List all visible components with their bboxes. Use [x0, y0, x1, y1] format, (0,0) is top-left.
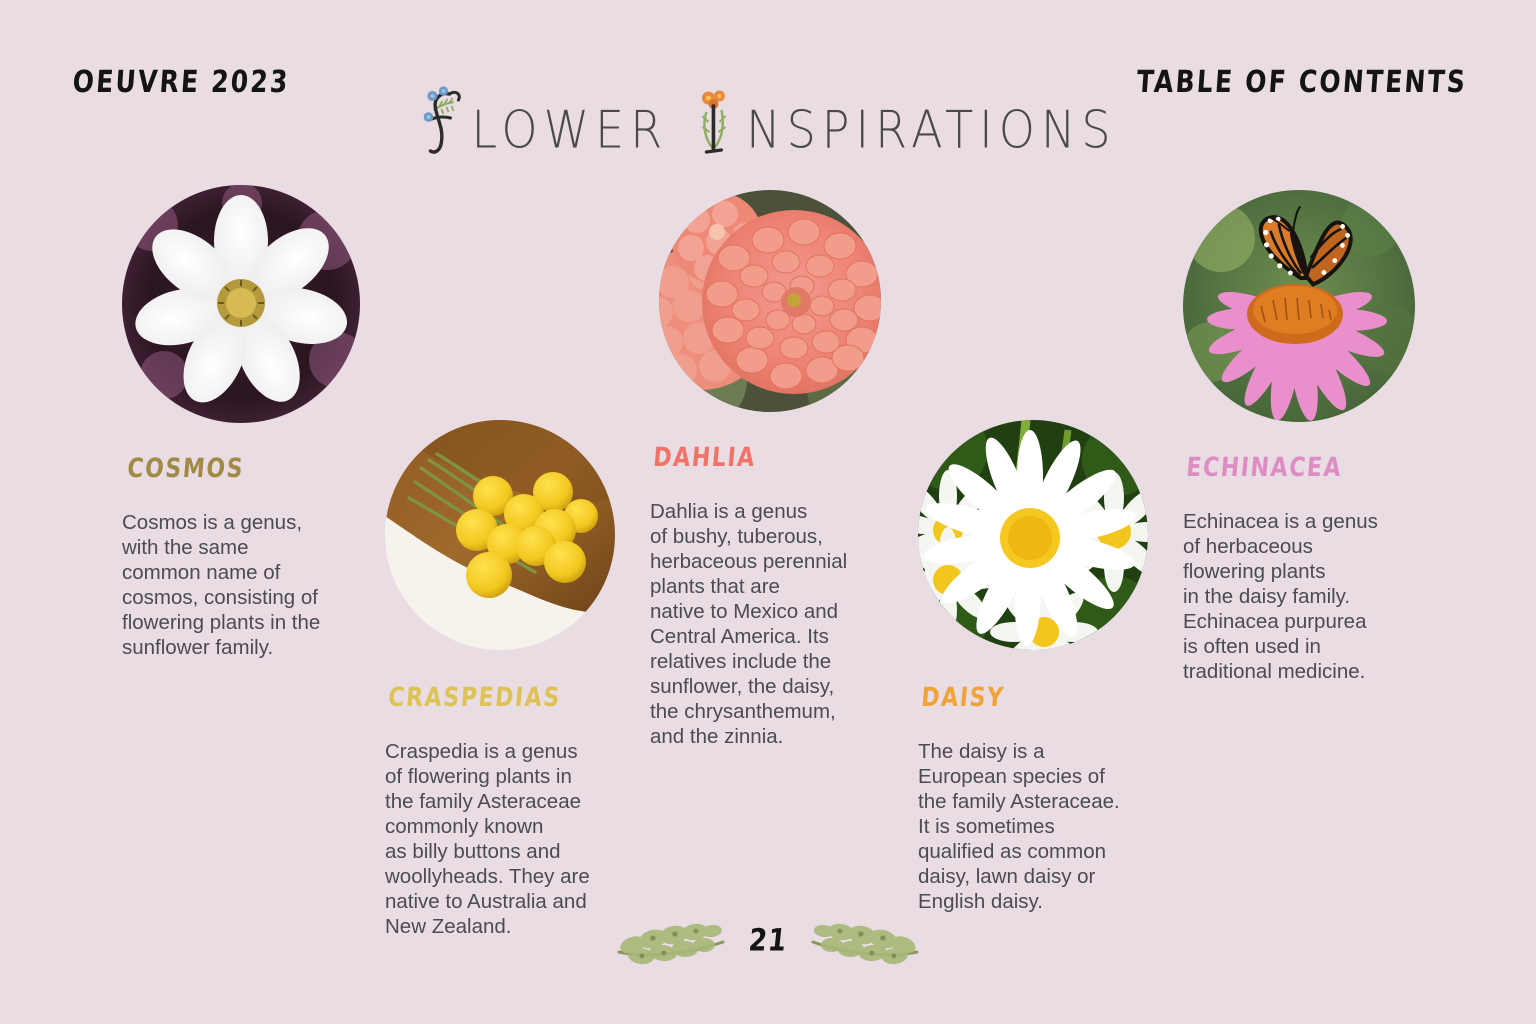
title-word-flower: LOWER [419, 76, 668, 162]
flower-card-echinacea: ECHINACEA Echinacea is a genus of herbac… [1183, 190, 1433, 684]
cosmos-photo [122, 185, 360, 423]
header-right-label: TABLE OF CONTENTS [1135, 64, 1468, 99]
daisy-photo [918, 420, 1148, 650]
flower-card-cosmos: COSMOS Cosmos is a genus, with the same … [122, 185, 384, 660]
floral-letter-i-icon [694, 76, 746, 162]
flower-description-daisy: The daisy is a European species of the f… [918, 739, 1168, 914]
echinacea-photo [1183, 190, 1415, 422]
flower-name-cosmos: COSMOS [126, 454, 387, 484]
page-number: 21 [747, 923, 789, 958]
flower-card-dahlia: DAHLIA Dahlia is a genus of bushy, tuber… [650, 190, 890, 749]
page-title: LOWER NSPIRATIONS [419, 76, 1116, 162]
flower-name-daisy: DAISY [920, 683, 1171, 713]
title-text-inspirations: NSPIRATIONS [746, 104, 1116, 162]
footer: 21 [615, 918, 921, 964]
title-word-inspirations: NSPIRATIONS [694, 76, 1116, 162]
dahlia-photo [659, 190, 881, 412]
leaf-sprig-right-icon [809, 918, 921, 964]
title-text-flower: LOWER [471, 104, 668, 162]
flower-description-echinacea: Echinacea is a genus of herbaceous flowe… [1183, 509, 1433, 684]
flower-description-cosmos: Cosmos is a genus, with the same common … [122, 510, 384, 660]
header-left-label: OEUVRE 2023 [72, 64, 291, 99]
floral-letter-f-icon [419, 76, 471, 162]
flower-name-echinacea: ECHINACEA [1185, 453, 1436, 483]
craspedias-photo [385, 420, 615, 650]
leaf-sprig-left-icon [615, 918, 727, 964]
flower-name-dahlia: DAHLIA [652, 443, 893, 473]
flower-card-craspedias: CRASPEDIAS Craspedia is a genus of flowe… [385, 420, 635, 939]
flower-description-craspedias: Craspedia is a genus of flowering plants… [385, 739, 635, 939]
flower-name-craspedias: CRASPEDIAS [387, 683, 638, 713]
flower-card-daisy: DAISY The daisy is a European species of… [918, 420, 1168, 914]
flower-description-dahlia: Dahlia is a genus of bushy, tuberous, he… [650, 499, 890, 749]
